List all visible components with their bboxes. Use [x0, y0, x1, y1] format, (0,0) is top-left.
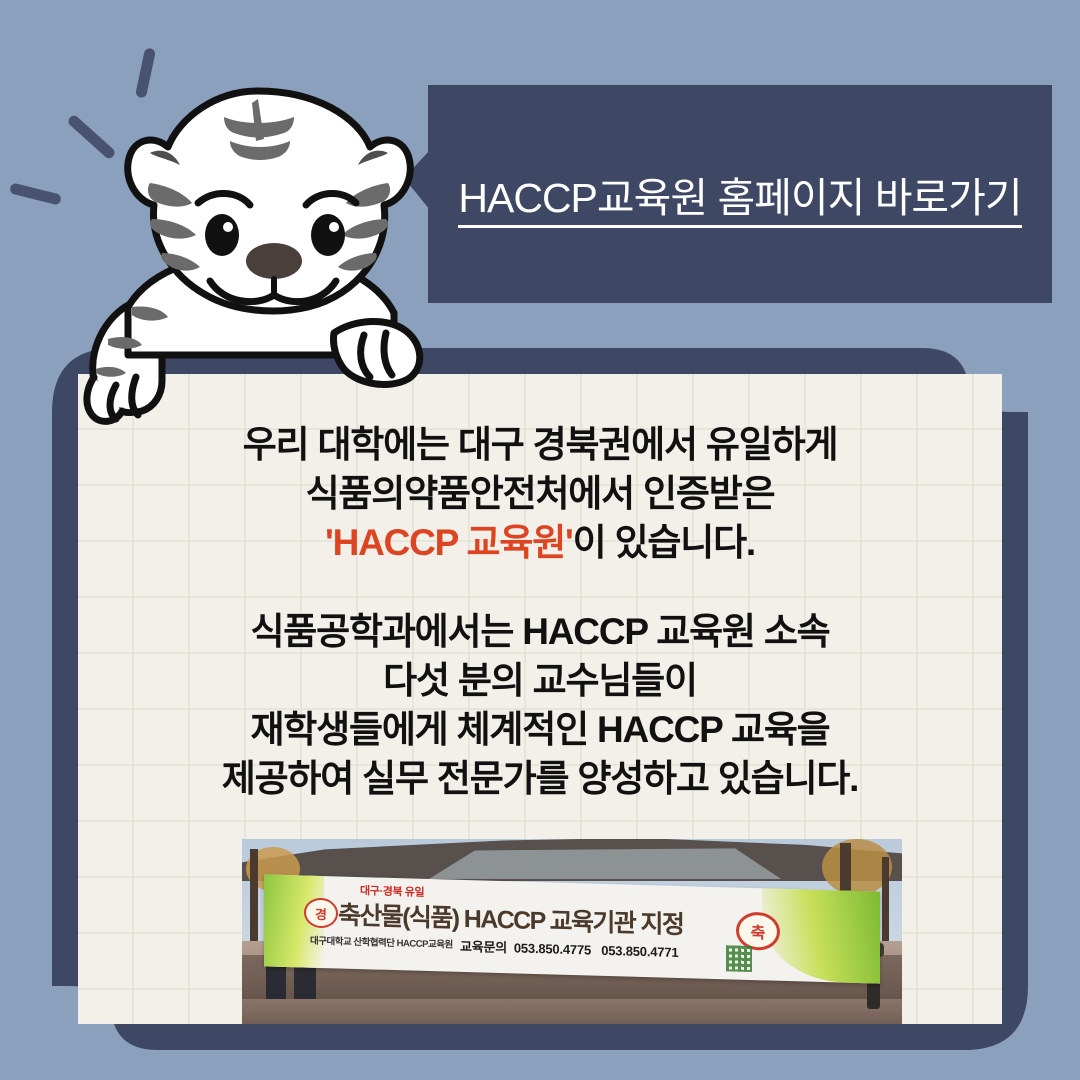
header-link-label: HACCP교육원 홈페이지 바로가기: [458, 175, 1021, 228]
paragraph-spacer: [78, 567, 1002, 607]
spark-dash-icon: [9, 182, 62, 205]
banner-tel-1: 053.850.4775: [514, 940, 591, 957]
banner-photograph: 대구·경북 유일 경 축산물(식품) HACCP 교육기관 지정 축 대구대학교…: [242, 839, 902, 1024]
header-link-text[interactable]: HACCP교육원 홈페이지 바로가기: [428, 164, 1052, 224]
p2-line-1: 식품공학과에서는 HACCP 교육원 소속: [78, 607, 1002, 656]
p1-line-1: 우리 대학에는 대구 경북권에서 유일하게: [78, 420, 1002, 469]
banner-sub-line: 대구대학교 산학협력단 HACCP교육원: [310, 933, 453, 951]
p2-line-4: 제공하여 실무 전문가를 양성하고 있습니다.: [78, 754, 1002, 803]
p2-line-2: 다섯 분의 교수님들이: [78, 656, 1002, 705]
card-inner-surface: 우리 대학에는 대구 경북권에서 유일하게 식품의약품안전처에서 인증받은 'H…: [78, 374, 1002, 1024]
p1-line-3: 'HACCP 교육원'이 있습니다.: [78, 518, 1002, 567]
content-card: 우리 대학에는 대구 경북권에서 유일하게 식품의약품안전처에서 인증받은 'H…: [52, 348, 1028, 1050]
accent-phrase: 'HACCP 교육원': [325, 522, 573, 563]
qr-code-icon: [726, 945, 752, 972]
banner-green-right: [762, 888, 880, 983]
banner-tel-label: 교육문의: [460, 939, 507, 955]
banner-seal-left: 경: [304, 898, 338, 929]
p1-line-3-tail: 이 있습니다.: [573, 522, 755, 563]
p2-line-3: 재학생들에게 체계적인 HACCP 교육을: [78, 705, 1002, 754]
white-tiger-mascot: [58, 55, 458, 425]
body-copy: 우리 대학에는 대구 경북권에서 유일하게 식품의약품안전처에서 인증받은 'H…: [78, 420, 1002, 803]
banner-tel-2: 053.850.4771: [601, 943, 678, 960]
poster-canvas: HACCP교육원 홈페이지 바로가기 우리 대학에는 대구 경북권에서 유일하게…: [0, 0, 1080, 1080]
p1-line-2: 식품의약품안전처에서 인증받은: [78, 469, 1002, 518]
header-link-bubble[interactable]: HACCP교육원 홈페이지 바로가기: [428, 85, 1052, 303]
congratulation-banner: 대구·경북 유일 경 축산물(식품) HACCP 교육기관 지정 축 대구대학교…: [264, 874, 880, 983]
